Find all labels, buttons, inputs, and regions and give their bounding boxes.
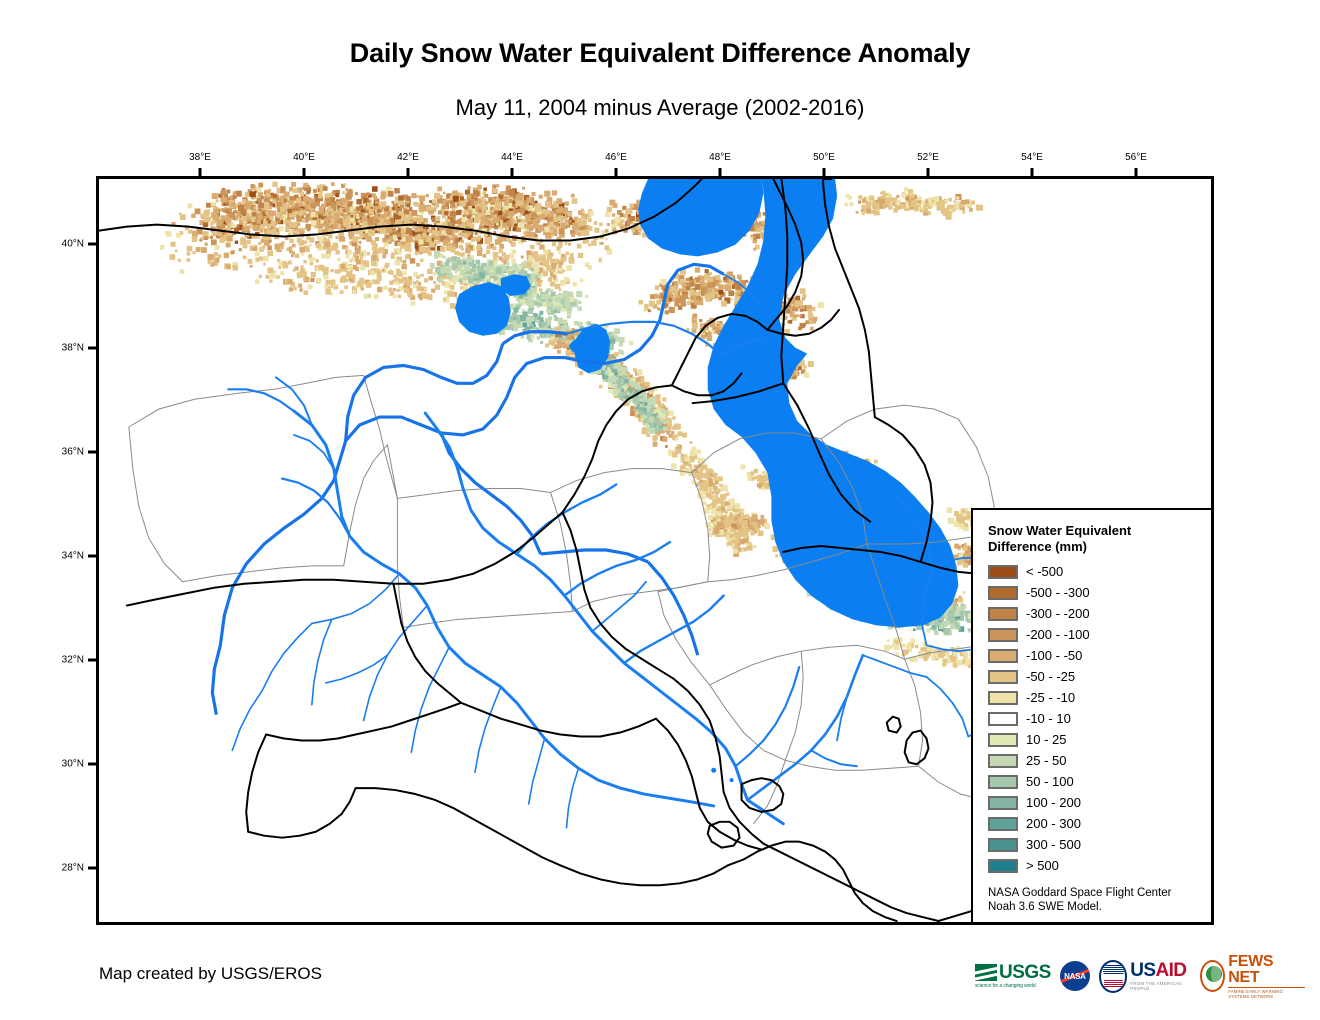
swe-anomaly-cell — [320, 220, 324, 224]
swe-anomaly-cell — [511, 226, 514, 229]
swe-anomaly-cell — [366, 192, 369, 195]
swe-anomaly-cell — [395, 242, 398, 245]
swe-anomaly-cell — [728, 290, 734, 296]
swe-anomaly-cell — [500, 191, 504, 195]
swe-anomaly-cell — [444, 211, 448, 215]
swe-anomaly-cell — [447, 271, 450, 274]
swe-anomaly-cell — [466, 257, 472, 263]
swe-anomaly-cell — [464, 210, 468, 214]
swe-anomaly-cell — [255, 201, 258, 204]
swe-anomaly-cell — [630, 411, 635, 416]
swe-anomaly-cell — [563, 209, 568, 214]
swe-anomaly-cell — [548, 316, 552, 320]
swe-anomaly-cell — [540, 280, 543, 283]
swe-anomaly-cell — [450, 204, 454, 208]
swe-anomaly-cell — [547, 255, 552, 260]
swe-anomaly-cell — [545, 343, 549, 347]
swe-anomaly-cell — [282, 261, 286, 265]
swe-anomaly-cell — [201, 247, 207, 253]
swe-anomaly-cell — [531, 278, 535, 282]
swe-anomaly-cell — [559, 228, 565, 234]
swe-anomaly-cell — [267, 194, 271, 198]
swe-anomaly-cell — [504, 191, 508, 195]
swe-anomaly-cell — [293, 269, 296, 272]
swe-anomaly-cell — [790, 312, 795, 317]
swe-anomaly-cell — [810, 327, 814, 331]
swe-anomaly-cell — [571, 233, 575, 237]
swe-anomaly-cell — [638, 300, 643, 305]
swe-anomaly-cell — [393, 288, 396, 291]
swe-anomaly-cell — [689, 290, 695, 296]
lon-tick-label: 50°E — [813, 152, 835, 163]
swe-anomaly-cell — [435, 236, 439, 240]
swe-anomaly-cell — [492, 184, 496, 188]
swe-anomaly-cell — [539, 244, 544, 249]
swe-anomaly-cell — [473, 190, 478, 195]
swe-anomaly-cell — [252, 244, 255, 247]
swe-anomaly-cell — [481, 216, 485, 220]
swe-anomaly-cell — [477, 185, 482, 190]
swe-anomaly-cell — [256, 187, 261, 192]
swe-anomaly-cell — [364, 294, 369, 299]
swe-anomaly-cell — [382, 255, 386, 259]
swe-anomaly-cell — [416, 280, 419, 283]
lon-tick-mark — [823, 168, 826, 176]
swe-anomaly-cell — [272, 199, 276, 203]
swe-anomaly-cell — [440, 195, 443, 198]
swe-anomaly-cell — [296, 215, 299, 218]
lat-tick-mark — [88, 450, 96, 453]
swe-anomaly-cell — [484, 238, 490, 244]
swe-anomaly-cell — [213, 221, 216, 224]
swe-anomaly-cell — [513, 197, 516, 200]
swe-anomaly-cell — [406, 196, 411, 201]
swe-anomaly-cell — [581, 215, 585, 219]
swe-anomaly-cell — [308, 254, 312, 258]
swe-anomaly-cell — [445, 207, 448, 210]
swe-anomaly-cell — [340, 264, 345, 269]
swe-anomaly-cell — [538, 214, 543, 219]
swe-anomaly-cell — [323, 186, 328, 191]
swe-anomaly-cell — [573, 282, 577, 286]
swe-anomaly-cell — [721, 301, 727, 307]
swe-anomaly-cell — [515, 328, 518, 331]
swe-anomaly-cell — [254, 206, 257, 209]
swe-anomaly-cell — [523, 311, 528, 316]
swe-anomaly-cell — [401, 264, 406, 269]
swe-anomaly-cell — [665, 310, 669, 314]
swe-anomaly-cell — [299, 288, 302, 291]
swe-anomaly-cell — [284, 192, 290, 198]
swe-anomaly-cell — [618, 222, 622, 226]
swe-anomaly-cell — [280, 243, 284, 247]
swe-anomaly-cell — [708, 332, 712, 336]
swe-anomaly-cell — [402, 260, 406, 264]
swe-anomaly-cell — [718, 284, 723, 289]
swe-anomaly-cell — [230, 202, 235, 207]
swe-anomaly-cell — [545, 210, 549, 214]
swe-anomaly-cell — [486, 245, 490, 249]
swe-anomaly-cell — [543, 232, 546, 235]
swe-anomaly-cell — [366, 236, 371, 241]
swe-anomaly-cell — [267, 268, 273, 274]
swe-anomaly-cell — [380, 195, 385, 200]
swe-anomaly-cell — [336, 250, 340, 254]
swe-anomaly-cell — [572, 223, 578, 229]
swe-anomaly-cell — [588, 226, 593, 231]
swe-anomaly-cell — [261, 196, 264, 199]
swe-anomaly-cell — [543, 333, 547, 337]
lon-tick-mark — [511, 168, 514, 176]
lon-tick-mark — [1031, 168, 1034, 176]
swe-anomaly-cell — [416, 276, 419, 279]
lon-tick-mark — [199, 168, 202, 176]
swe-anomaly-cell — [717, 321, 720, 324]
swe-anomaly-cell — [384, 242, 389, 247]
swe-anomaly-cell — [565, 350, 571, 356]
swe-anomaly-cell — [460, 275, 463, 278]
swe-anomaly-cell — [699, 302, 703, 306]
swe-anomaly-cell — [613, 228, 616, 231]
swe-anomaly-cell — [467, 215, 471, 219]
swe-anomaly-cell — [415, 251, 419, 255]
swe-anomaly-cell — [431, 207, 434, 210]
swe-anomaly-cell — [448, 266, 451, 269]
swe-anomaly-cell — [526, 225, 529, 228]
swe-anomaly-cell — [291, 254, 294, 257]
swe-anomaly-cell — [310, 278, 314, 282]
swe-anomaly-cell — [564, 301, 567, 304]
swe-anomaly-cell — [424, 278, 428, 282]
swe-anomaly-cell — [325, 198, 331, 204]
swe-anomaly-cell — [557, 209, 561, 213]
swe-anomaly-cell — [405, 255, 410, 260]
swe-anomaly-cell — [555, 284, 561, 290]
swe-anomaly-cell — [578, 306, 582, 310]
swe-anomaly-cell — [669, 411, 674, 416]
swe-anomaly-cell — [187, 246, 193, 252]
swe-anomaly-cell — [410, 258, 415, 263]
swe-anomaly-cell — [670, 286, 676, 292]
swe-anomaly-cell — [276, 275, 280, 279]
swe-anomaly-cell — [495, 262, 498, 265]
swe-anomaly-cell — [479, 272, 485, 278]
swe-anomaly-cell — [350, 217, 354, 221]
swe-anomaly-cell — [420, 259, 423, 262]
swe-anomaly-cell — [548, 277, 552, 281]
swe-anomaly-cell — [203, 231, 208, 236]
swe-anomaly-cell — [627, 223, 630, 226]
swe-anomaly-cell — [398, 278, 403, 283]
swe-anomaly-cell — [468, 186, 471, 189]
swe-anomaly-cell — [535, 281, 538, 284]
swe-anomaly-cell — [240, 239, 246, 245]
swe-anomaly-cell — [232, 265, 238, 271]
swe-anomaly-cell — [809, 321, 813, 325]
swe-anomaly-cell — [214, 245, 219, 250]
swe-anomaly-cell — [366, 282, 372, 288]
swe-anomaly-cell — [250, 184, 254, 188]
swe-anomaly-cell — [395, 203, 398, 206]
swe-anomaly-cell — [559, 267, 563, 271]
swe-anomaly-cell — [253, 225, 259, 231]
swe-anomaly-cell — [334, 286, 337, 289]
swe-anomaly-cell — [250, 224, 253, 227]
swe-anomaly-cell — [580, 279, 583, 282]
swe-anomaly-cell — [427, 294, 432, 299]
swe-anomaly-cell — [377, 287, 382, 292]
swe-anomaly-cell — [214, 215, 219, 220]
swe-anomaly-cell — [320, 223, 324, 227]
swe-anomaly-cell — [541, 322, 546, 327]
swe-anomaly-cell — [456, 210, 461, 215]
swe-anomaly-cell — [554, 298, 557, 301]
swe-anomaly-cell — [514, 308, 519, 313]
swe-anomaly-cell — [343, 209, 346, 212]
swe-anomaly-cell — [235, 241, 238, 244]
swe-anomaly-cell — [473, 236, 477, 240]
swe-anomaly-cell — [433, 281, 436, 284]
swe-anomaly-cell — [650, 294, 655, 299]
lon-tick-mark — [1135, 168, 1138, 176]
swe-anomaly-cell — [409, 289, 412, 292]
swe-anomaly-cell — [226, 242, 231, 247]
swe-anomaly-cell — [324, 267, 329, 272]
swe-anomaly-cell — [542, 271, 547, 276]
swe-anomaly-cell — [465, 190, 470, 195]
swe-anomaly-cell — [291, 222, 297, 228]
swe-anomaly-cell — [588, 218, 592, 222]
swe-anomaly-cell — [525, 214, 529, 218]
lat-tick-label: 40°N — [40, 238, 84, 249]
swe-anomaly-cell — [384, 234, 389, 239]
swe-anomaly-cell — [509, 253, 514, 258]
swe-anomaly-cell — [229, 212, 235, 218]
lon-tick-label: 40°E — [293, 152, 315, 163]
swe-anomaly-cell — [461, 217, 466, 222]
lat-tick-label: 32°N — [40, 654, 84, 665]
swe-anomaly-cell — [493, 252, 499, 258]
swe-anomaly-cell — [435, 267, 440, 272]
swe-anomaly-cell — [214, 231, 219, 236]
swe-anomaly-cell — [324, 275, 329, 280]
swe-anomaly-cell — [346, 195, 350, 199]
swe-anomaly-cell — [553, 271, 556, 274]
swe-anomaly-cell — [271, 220, 276, 225]
swe-anomaly-cell — [429, 200, 432, 203]
swe-anomaly-cell — [692, 323, 698, 329]
swe-anomaly-cell — [223, 237, 227, 241]
swe-anomaly-cell — [540, 255, 546, 261]
swe-anomaly-cell — [630, 222, 633, 225]
swe-anomaly-cell — [478, 267, 484, 273]
swe-anomaly-cell — [648, 309, 651, 312]
swe-anomaly-cell — [272, 182, 277, 187]
swe-anomaly-cell — [333, 224, 338, 229]
swe-anomaly-cell — [433, 272, 437, 276]
swe-anomaly-cell — [458, 233, 461, 236]
swe-anomaly-cell — [484, 194, 488, 198]
swe-anomaly-cell — [210, 222, 214, 226]
swe-anomaly-cell — [344, 183, 347, 186]
swe-anomaly-cell — [622, 219, 625, 222]
swe-anomaly-cell — [355, 192, 358, 195]
swe-anomaly-cell — [480, 223, 483, 226]
map-canvas[interactable]: Snow Water Equivalent Difference (mm) < … — [96, 176, 1214, 925]
swe-anomaly-cell — [205, 243, 208, 246]
swe-anomaly-cell — [526, 206, 529, 209]
swe-anomaly-cell — [578, 322, 583, 327]
swe-anomaly-cell — [470, 224, 475, 229]
swe-anomaly-cell — [316, 243, 321, 248]
swe-anomaly-cell — [388, 191, 394, 197]
swe-anomaly-cell — [569, 297, 574, 302]
swe-anomaly-cell — [542, 261, 547, 266]
swe-anomaly-cell — [579, 371, 583, 375]
lon-tick-mark — [303, 168, 306, 176]
swe-anomaly-cell — [328, 234, 332, 238]
swe-anomaly-cell — [357, 281, 363, 287]
swe-anomaly-cell — [605, 245, 610, 250]
swe-anomaly-cell — [655, 295, 659, 299]
swe-anomaly-cell — [620, 350, 624, 354]
swe-anomaly-cell — [755, 234, 760, 239]
swe-anomaly-cell — [299, 247, 305, 253]
swe-anomaly-cell — [521, 262, 526, 267]
swe-anomaly-cell — [391, 255, 395, 259]
swe-anomaly-cell — [426, 194, 429, 197]
swe-anomaly-cell — [557, 350, 561, 354]
swe-anomaly-cell — [464, 265, 470, 271]
swe-anomaly-cell — [544, 191, 550, 197]
swe-anomaly-cell — [219, 232, 222, 235]
swe-anomaly-cell — [264, 203, 269, 208]
swe-anomaly-cell — [415, 202, 419, 206]
swe-anomaly-cell — [324, 226, 328, 230]
swe-anomaly-cell — [565, 219, 568, 222]
swe-anomaly-cell — [693, 295, 696, 298]
swe-anomaly-cell — [660, 299, 663, 302]
swe-anomaly-cell — [188, 229, 192, 233]
swe-anomaly-cell — [795, 307, 799, 311]
swe-anomaly-cell — [421, 205, 426, 210]
swe-anomaly-cell — [308, 285, 313, 290]
swe-anomaly-cell — [196, 247, 201, 252]
swe-anomaly-cell — [548, 298, 551, 301]
swe-anomaly-cell — [561, 222, 567, 228]
swe-anomaly-cell — [486, 250, 490, 254]
swe-anomaly-cell — [258, 183, 263, 188]
swe-anomaly-cell — [303, 212, 306, 215]
swe-anomaly-cell — [330, 269, 333, 272]
swe-anomaly-cell — [470, 263, 474, 267]
swe-anomaly-cell — [753, 248, 756, 251]
swe-anomaly-cell — [265, 275, 269, 279]
swe-anomaly-cell — [507, 238, 511, 242]
swe-anomaly-cell — [558, 251, 561, 254]
swe-anomaly-cell — [331, 182, 335, 186]
swe-anomaly-cell — [271, 229, 277, 235]
swe-anomaly-cell — [419, 195, 425, 201]
swe-anomaly-cell — [468, 219, 472, 223]
swe-anomaly-cell — [497, 202, 501, 206]
swe-anomaly-cell — [435, 284, 440, 289]
swe-anomaly-cell — [526, 262, 532, 268]
swe-anomaly-cell — [216, 199, 219, 202]
swe-anomaly-cell — [540, 341, 543, 344]
swe-anomaly-cell — [422, 233, 426, 237]
swe-anomaly-cell — [491, 214, 495, 218]
swe-anomaly-cell — [278, 226, 283, 231]
lon-tick-label: 44°E — [501, 152, 523, 163]
swe-anomaly-cell — [565, 242, 568, 245]
swe-anomaly-cell — [532, 251, 538, 257]
swe-anomaly-cell — [263, 256, 269, 262]
swe-anomaly-cell — [678, 431, 683, 436]
swe-anomaly-cell — [432, 199, 436, 203]
swe-anomaly-cell — [402, 271, 406, 275]
lat-tick-label: 38°N — [40, 342, 84, 353]
swe-anomaly-cell — [370, 270, 375, 275]
swe-anomaly-cell — [539, 288, 542, 291]
swe-anomaly-cell — [682, 433, 687, 438]
swe-anomaly-cell — [517, 209, 520, 212]
swe-anomaly-cell — [255, 279, 260, 284]
swe-anomaly-cell — [358, 241, 361, 244]
swe-anomaly-cell — [340, 290, 344, 294]
swe-anomaly-cell — [709, 292, 715, 298]
swe-anomaly-cell — [546, 265, 552, 271]
swe-anomaly-cell — [528, 267, 531, 270]
swe-anomaly-cell — [483, 188, 486, 191]
swe-anomaly-cell — [675, 424, 681, 430]
swe-anomaly-cell — [400, 244, 404, 248]
swe-anomaly-cell — [285, 227, 289, 231]
swe-anomaly-cell — [642, 427, 646, 431]
swe-anomaly-cell — [349, 189, 353, 193]
swe-anomaly-cell — [525, 300, 531, 306]
swe-anomaly-cell — [224, 253, 229, 258]
swe-anomaly-cell — [304, 241, 307, 244]
swe-anomaly-cell — [530, 287, 536, 293]
swe-anomaly-cell — [496, 197, 499, 200]
swe-anomaly-cell — [610, 344, 613, 347]
swe-anomaly-cell — [674, 281, 678, 285]
swe-anomaly-cell — [705, 269, 709, 273]
swe-anomaly-cell — [210, 236, 213, 239]
swe-anomaly-cell — [301, 253, 304, 256]
swe-anomaly-cell — [280, 216, 284, 220]
swe-anomaly-cell — [480, 220, 483, 223]
swe-anomaly-cell — [311, 220, 316, 225]
swe-anomaly-cell — [591, 241, 596, 246]
swe-anomaly-cell — [392, 207, 395, 210]
swe-anomaly-cell — [180, 214, 186, 220]
swe-anomaly-cell — [459, 245, 463, 249]
swe-anomaly-cell — [207, 217, 211, 221]
swe-anomaly-cell — [160, 245, 165, 250]
swe-anomaly-cell — [399, 219, 402, 222]
swe-anomaly-cell — [432, 230, 437, 235]
swe-anomaly-cell — [377, 231, 380, 234]
swe-anomaly-cell — [226, 265, 231, 270]
swe-anomaly-cell — [233, 195, 236, 198]
swe-anomaly-cell — [417, 286, 422, 291]
swe-anomaly-cell — [652, 435, 657, 440]
swe-anomaly-cell — [512, 263, 517, 268]
swe-anomaly-cell — [513, 322, 516, 325]
swe-anomaly-cell — [406, 279, 412, 285]
